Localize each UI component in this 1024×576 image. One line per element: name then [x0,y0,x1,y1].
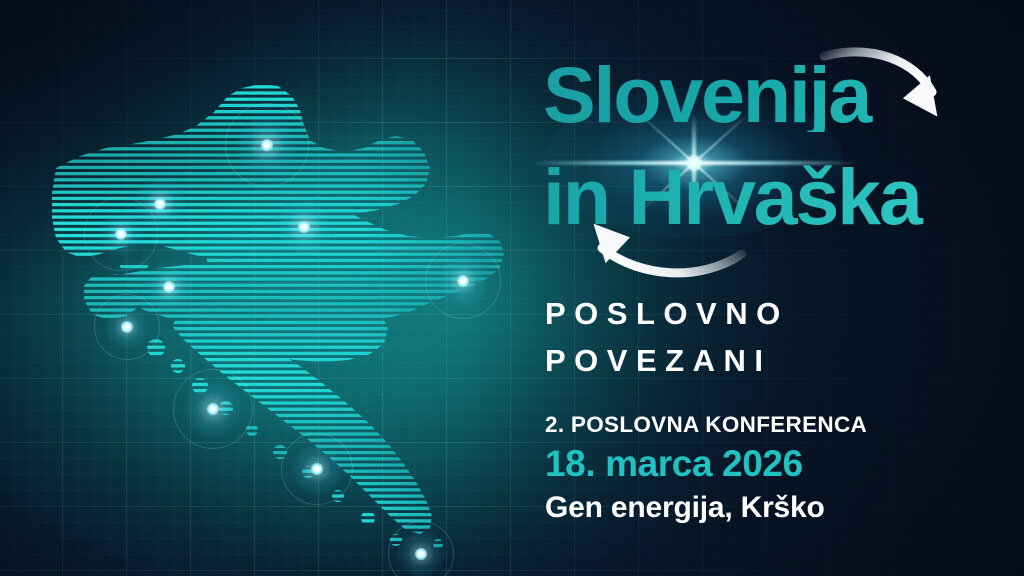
map-illustration [28,48,508,548]
map-scanlines [28,48,508,547]
conference-poster: Slovenija in Hrvaška POSLOVNO POVEZANI 2… [0,0,1024,576]
headline-line-1: Slovenija [543,58,1013,132]
event-info-block: 2. POSLOVNA KONFERENCA 18. marca 2026 Ge… [545,412,867,525]
headline-block: Slovenija in Hrvaška [543,58,1013,235]
subtitle-line-1: POSLOVNO [545,290,789,337]
subtitle-line-2: POVEZANI [545,337,789,384]
event-venue: Gen energija, Krško [545,491,867,525]
map-scanline-svg [28,48,508,548]
text-content: Slovenija in Hrvaška POSLOVNO POVEZANI 2… [543,0,1003,576]
subtitle-block: POSLOVNO POVEZANI [545,290,789,384]
headline-line-2: in Hrvaška [543,160,1013,234]
event-date: 18. marca 2026 [545,443,867,485]
event-kicker: 2. POSLOVNA KONFERENCA [545,412,867,438]
